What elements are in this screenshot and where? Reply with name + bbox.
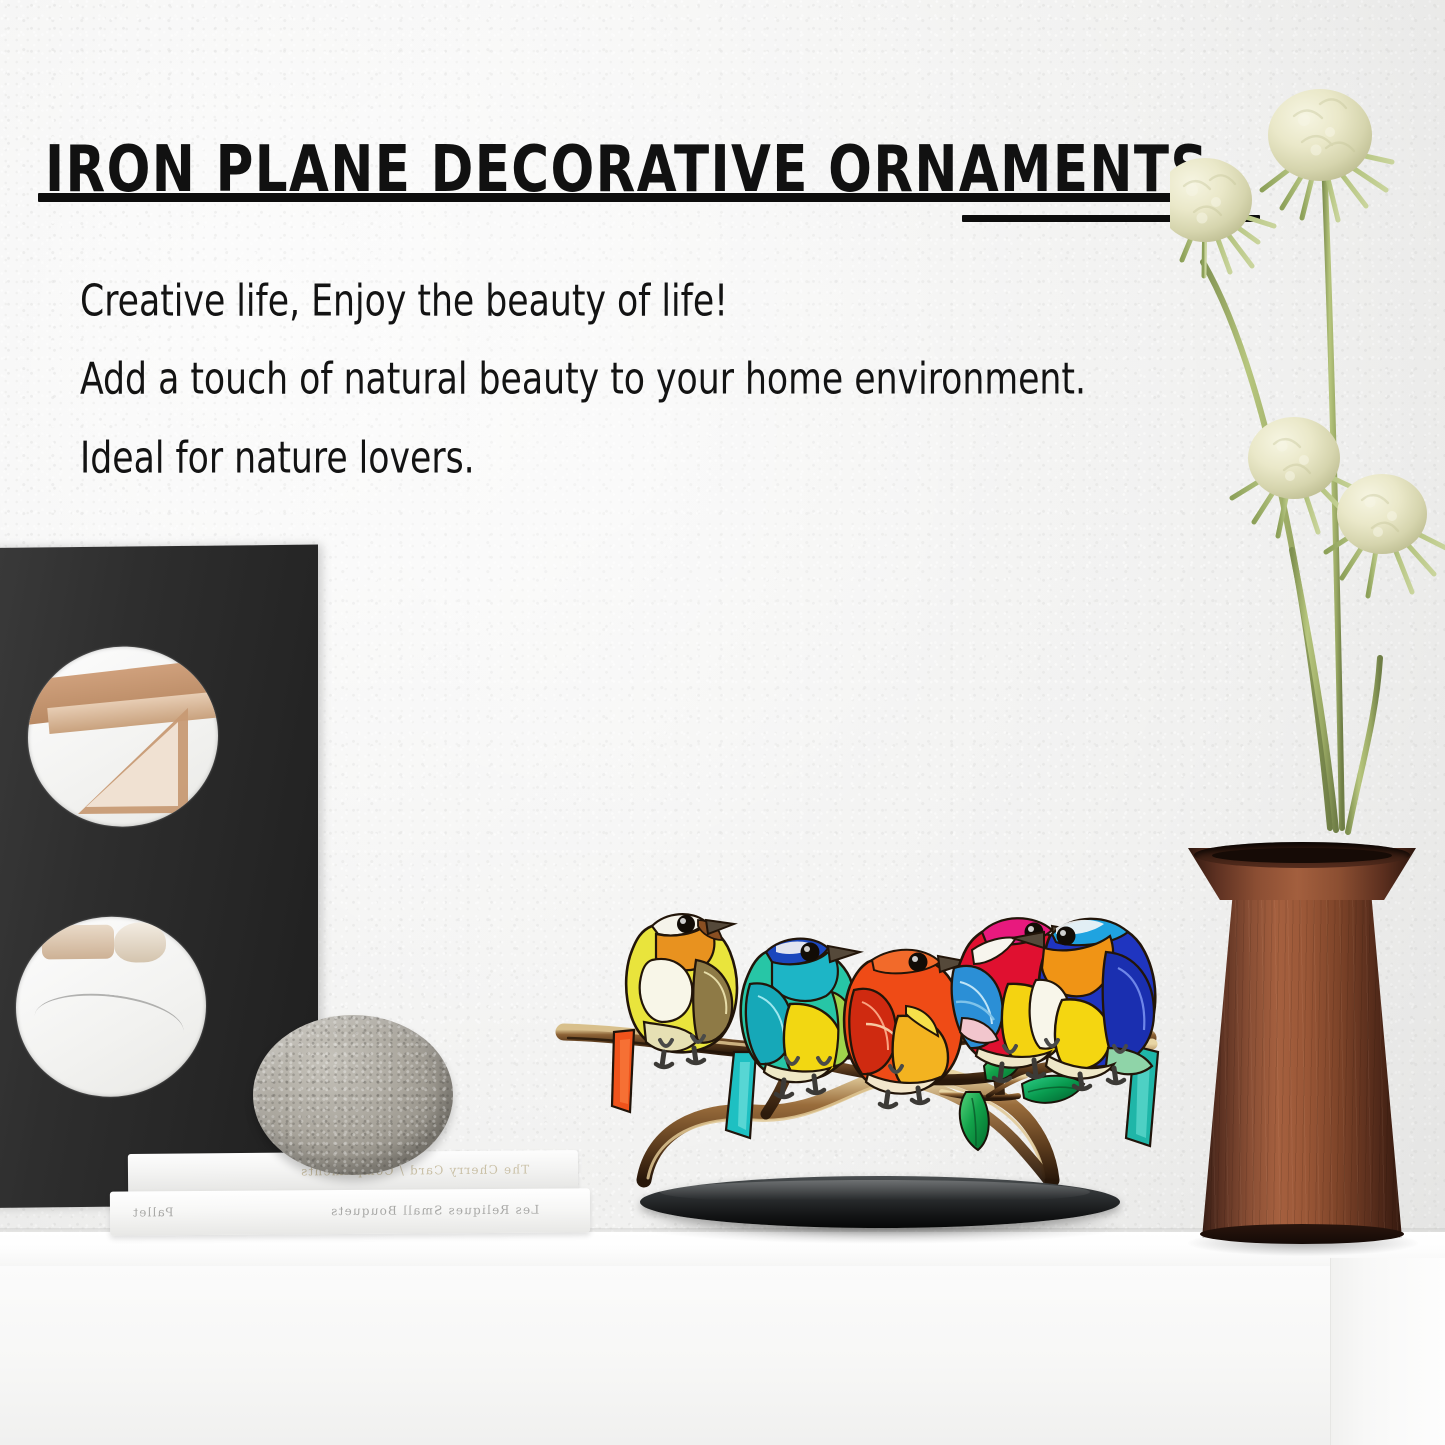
wooden-vase [1188,818,1418,1238]
mirror-circle-top [28,646,218,828]
mirror-reflection-curve [31,987,187,1061]
stone-speckle-texture [253,1015,453,1175]
vase-base [1200,1224,1404,1244]
mirror-reflection-highlight [86,722,178,807]
sculpture-base-gloss [660,1180,1090,1204]
leaf-right [1022,1076,1084,1103]
counter-front-panel [0,1266,1445,1445]
flower-stems-svg [1170,40,1445,850]
mirror-reflection-object-b [114,922,166,963]
book-spine-text-left: Pallet [132,1205,174,1219]
counter-right-edge [1330,1258,1445,1445]
vase-mouth [1194,842,1410,868]
vase-wood-grain [1202,880,1402,1238]
vase-mouth-interior [1212,848,1392,863]
book-spine-text-right: Les Reliques Small Bouquets [330,1203,539,1218]
mirror-circle-bottom [16,916,206,1098]
flower-bloom-4 [1337,474,1427,554]
vase-body [1202,880,1402,1238]
product-image-canvas: IRON PLANE DECORATIVE ORNAMENTS Creative… [0,0,1445,1445]
decorative-stone [253,1015,453,1175]
book-lower: Pallet Les Reliques Small Bouquets [110,1188,590,1235]
tagline-line-3: Ideal for nature lovers. [80,432,475,483]
title-underline-primary [38,193,1178,202]
bird-sculpture [548,880,1188,1245]
leaf-lower [960,1092,989,1150]
tagline-line-1: Creative life, Enjoy the beauty of life! [80,275,728,326]
flower-bloom-3 [1248,417,1340,499]
mirror-reflection-object-a [42,925,114,960]
flower-arrangement [1170,40,1445,850]
tagline-line-2: Add a touch of natural beauty to your ho… [80,353,1086,404]
bird-1 [612,914,737,1112]
